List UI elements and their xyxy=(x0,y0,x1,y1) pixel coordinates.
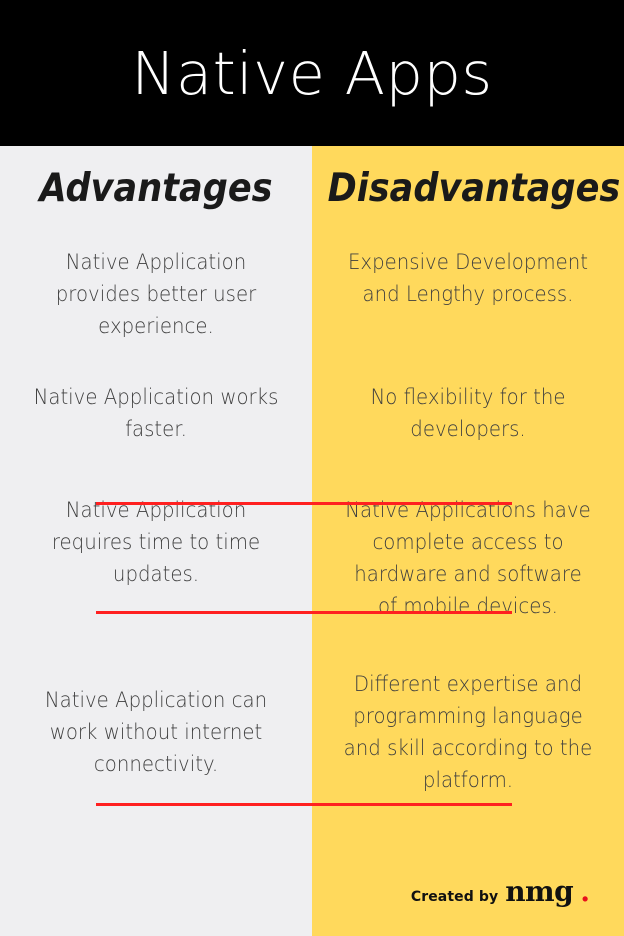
advantage-item-3: Native Application requires time to time… xyxy=(9,494,302,590)
credit-footer: Created by nmg . xyxy=(411,875,590,908)
advantage-item-2: Native Application works faster. xyxy=(9,381,302,445)
page-title: Native Apps xyxy=(131,44,492,103)
advantage-item-1: Native Application provides better user … xyxy=(9,246,302,342)
column-advantages: Advantages Native Application provides b… xyxy=(0,146,312,936)
native-apps-infographic: Native Apps Advantages Native Applicatio… xyxy=(0,0,624,936)
disadvantage-item-3: Native Applications have complete access… xyxy=(321,494,614,622)
nmg-logo: nmg xyxy=(505,875,573,908)
row-divider-1 xyxy=(96,502,512,505)
disadvantage-item-4: Different expertise and programming lang… xyxy=(321,668,614,796)
column-heading-advantages: Advantages xyxy=(16,168,297,211)
nmg-logo-dot: . xyxy=(580,875,590,908)
disadvantage-item-2: No flexibility for the developers. xyxy=(321,381,614,445)
header-bar: Native Apps xyxy=(0,0,624,146)
column-heading-disadvantages: Disadvantages xyxy=(328,168,609,211)
advantage-item-4: Native Application can work without inte… xyxy=(9,684,302,780)
column-disadvantages: Disadvantages Expensive Development and … xyxy=(312,146,624,936)
disadvantage-item-1: Expensive Development and Lengthy proces… xyxy=(321,246,614,310)
row-divider-3 xyxy=(96,803,512,806)
credit-label: Created by xyxy=(411,889,498,905)
comparison-columns: Advantages Native Application provides b… xyxy=(0,146,624,936)
row-divider-2 xyxy=(96,611,512,614)
